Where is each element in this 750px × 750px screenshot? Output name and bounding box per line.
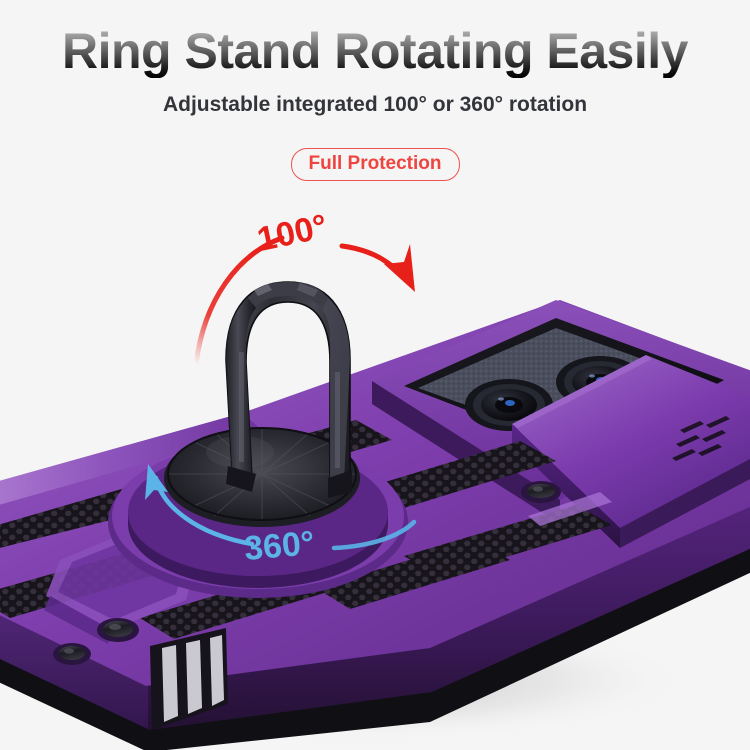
volume-button-secondary: [53, 643, 91, 665]
product-illustration: [0, 0, 750, 750]
annotation-label-360: 360°: [243, 524, 316, 569]
power-button: [97, 618, 139, 642]
button-top-right: [521, 481, 561, 503]
product-feature-image: Ring Stand Rotating Easily Adjustable in…: [0, 0, 750, 750]
